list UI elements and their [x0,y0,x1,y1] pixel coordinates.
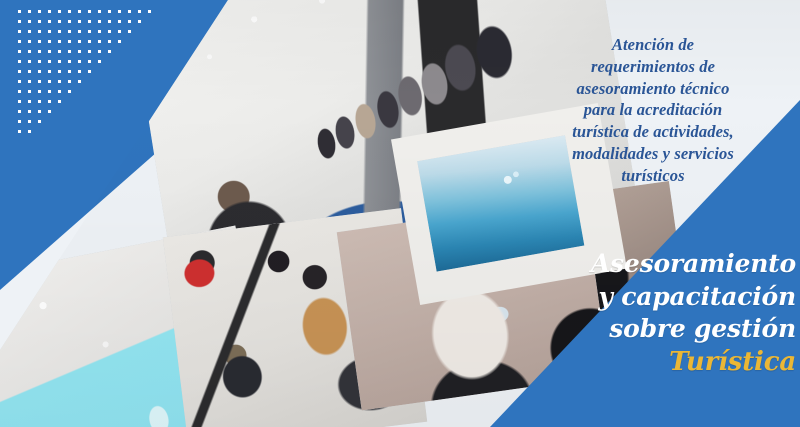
script-line-4-accent: Turística [560,346,800,380]
script-line-2: y capacitación [560,281,800,314]
script-heading-block: Asesoramiento y capacitación sobre gesti… [560,248,800,379]
poster-canvas: Atención de requerimientos de asesoramie… [0,0,800,427]
script-line-1: Asesoramiento [560,248,800,281]
script-line-3: sobre gestión [560,313,800,346]
headline-text: Atención de requerimientos de asesoramie… [512,34,794,186]
